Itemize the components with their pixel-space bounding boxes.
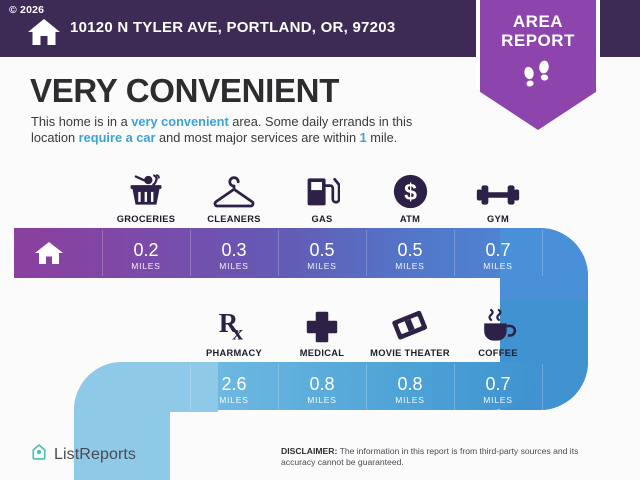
category-cleaners[interactable]: CLEANERS <box>190 168 278 224</box>
home-icon <box>34 240 64 266</box>
distance-groceries: 0.2 MILES <box>102 240 190 271</box>
distance-value: 0.5 <box>278 240 366 260</box>
category-medical[interactable]: MEDICAL <box>278 302 366 358</box>
distance-value: 0.2 <box>102 240 190 260</box>
category-label: MOVIE THEATER <box>366 348 454 358</box>
category-label: CLEANERS <box>190 214 278 224</box>
distance-value: 0.7 <box>454 374 542 394</box>
bar-divider <box>542 364 543 410</box>
category-label: GROCERIES <box>102 214 190 224</box>
category-label: GYM <box>454 214 542 224</box>
category-coffee[interactable]: COFFEE <box>454 302 542 358</box>
distance-unit: MILES <box>454 261 542 271</box>
distance-value: 0.7 <box>454 240 542 260</box>
rx-icon: R x <box>190 302 278 344</box>
listreports-wordmark: ListReports <box>54 446 136 464</box>
distance-unit: MILES <box>102 261 190 271</box>
dollar-circle-icon: $ <box>366 168 454 210</box>
distance-unit: MILES <box>454 395 542 405</box>
distance-pharmacy: 2.6 MILES <box>190 374 278 405</box>
category-gas[interactable]: GAS <box>278 168 366 224</box>
listreports-logo[interactable]: ListReports <box>30 443 136 466</box>
gas-pump-icon <box>278 168 366 210</box>
distance-value: 2.6 <box>190 374 278 394</box>
distance-unit: MILES <box>278 261 366 271</box>
dumbbell-icon <box>454 168 542 210</box>
distance-value: 0.8 <box>366 374 454 394</box>
distance-value: 0.3 <box>190 240 278 260</box>
category-groceries[interactable]: GROCERIES <box>102 168 190 224</box>
distance-atm: 0.5 MILES <box>366 240 454 271</box>
disclaimer-label: DISCLAIMER: <box>281 446 337 456</box>
distance-coffee: 0.7 MILES <box>454 374 542 405</box>
category-label: COFFEE <box>454 348 542 358</box>
bar-divider <box>542 230 543 276</box>
grocery-basket-icon <box>102 168 190 210</box>
category-atm[interactable]: $ ATM <box>366 168 454 224</box>
listreports-home-icon <box>30 443 48 466</box>
distance-unit: MILES <box>366 395 454 405</box>
distance-gym: 0.7 MILES <box>454 240 542 271</box>
category-pharmacy[interactable]: R x PHARMACY <box>190 302 278 358</box>
distance-cleaners: 0.3 MILES <box>190 240 278 271</box>
distance-unit: MILES <box>190 261 278 271</box>
distance-value: 0.8 <box>278 374 366 394</box>
movie-ticket-icon <box>366 302 454 344</box>
distance-unit: MILES <box>190 395 278 405</box>
category-gym[interactable]: GYM <box>454 168 542 224</box>
medical-cross-icon <box>278 302 366 344</box>
distance-unit: MILES <box>278 395 366 405</box>
distance-medical: 0.8 MILES <box>278 374 366 405</box>
area-report-infographic: © 2026 10120 N TYLER AVE, PORTLAND, OR, … <box>0 0 640 480</box>
category-movie-theater[interactable]: MOVIE THEATER <box>366 302 454 358</box>
category-label: PHARMACY <box>190 348 278 358</box>
category-label: ATM <box>366 214 454 224</box>
distance-gas: 0.5 MILES <box>278 240 366 271</box>
category-label: GAS <box>278 214 366 224</box>
svg-text:x: x <box>232 320 243 344</box>
disclaimer-text: DISCLAIMER: The information in this repo… <box>281 446 611 467</box>
category-label: MEDICAL <box>278 348 366 358</box>
svg-text:$: $ <box>404 179 417 205</box>
distance-unit: MILES <box>366 261 454 271</box>
coffee-cup-icon <box>454 302 542 344</box>
clothes-hanger-icon <box>190 168 278 210</box>
distance-movie-theater: 0.8 MILES <box>366 374 454 405</box>
distance-value: 0.5 <box>366 240 454 260</box>
